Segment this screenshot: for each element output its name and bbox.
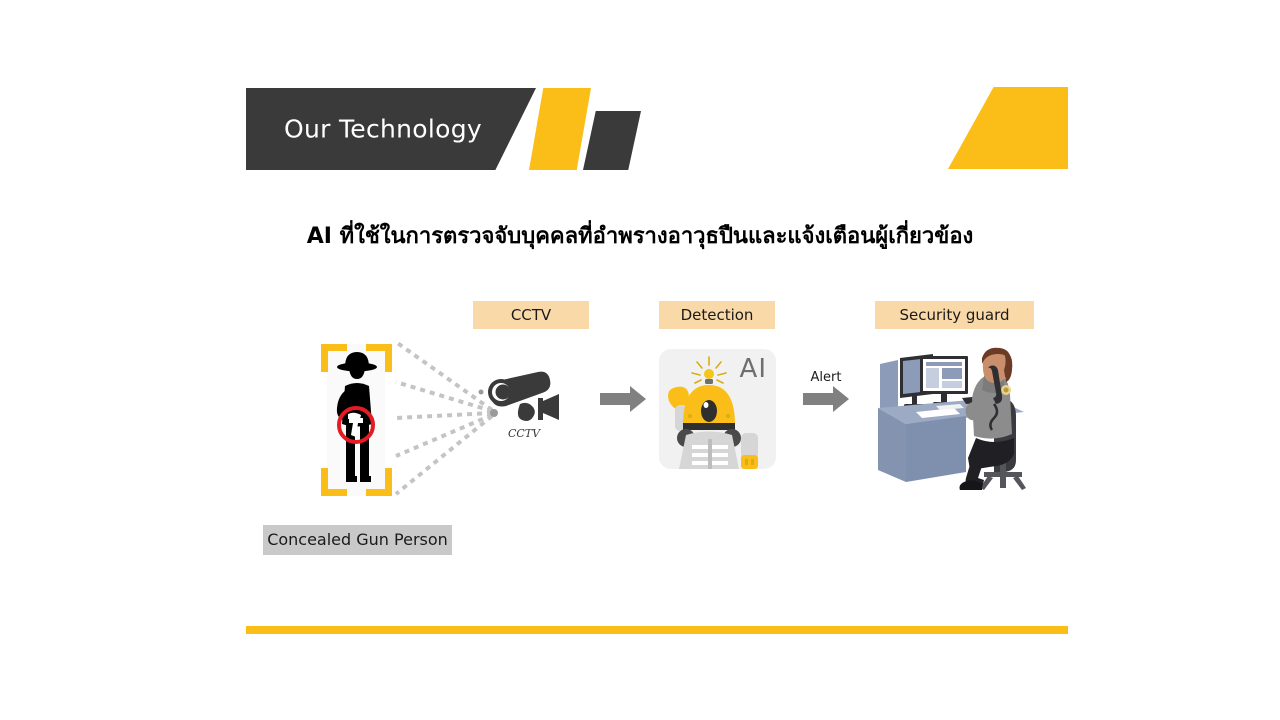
- stage-label-cctv: CCTV: [473, 301, 589, 329]
- stage-label-security-guard: Security guard: [875, 301, 1034, 329]
- header-banner: Our Technology: [246, 88, 646, 170]
- slide-canvas: Our Technology AI ที่ใช้ในการตรวจจับบุคค…: [0, 0, 1280, 720]
- banner-yellow-slash-shape: [529, 88, 591, 170]
- ai-robot-icon: AI: [659, 349, 776, 469]
- arrow-cctv-to-detection: [600, 386, 646, 412]
- ai-badge-text: AI: [740, 354, 767, 384]
- security-guard-at-desk-icon: [876, 346, 1031, 492]
- stage-label-detection: Detection: [659, 301, 775, 329]
- banner-dark-slash-shape: [583, 111, 641, 170]
- corner-accent-shape: [948, 87, 1068, 169]
- person-with-concealed-gun-icon: [318, 340, 396, 500]
- page-title: Our Technology: [284, 115, 482, 144]
- arrow-detection-to-guard: [803, 386, 849, 412]
- stage-label-concealed-gun-person: Concealed Gun Person: [263, 525, 452, 555]
- subtitle-text: AI ที่ใช้ในการตรวจจับบุคคลที่อำพรางอาวุธ…: [0, 218, 1280, 253]
- footer-accent-rule: [246, 626, 1068, 634]
- cctv-camera-icon: [476, 368, 572, 424]
- alert-label: Alert: [790, 370, 862, 385]
- cctv-caption: CCTV: [476, 427, 572, 440]
